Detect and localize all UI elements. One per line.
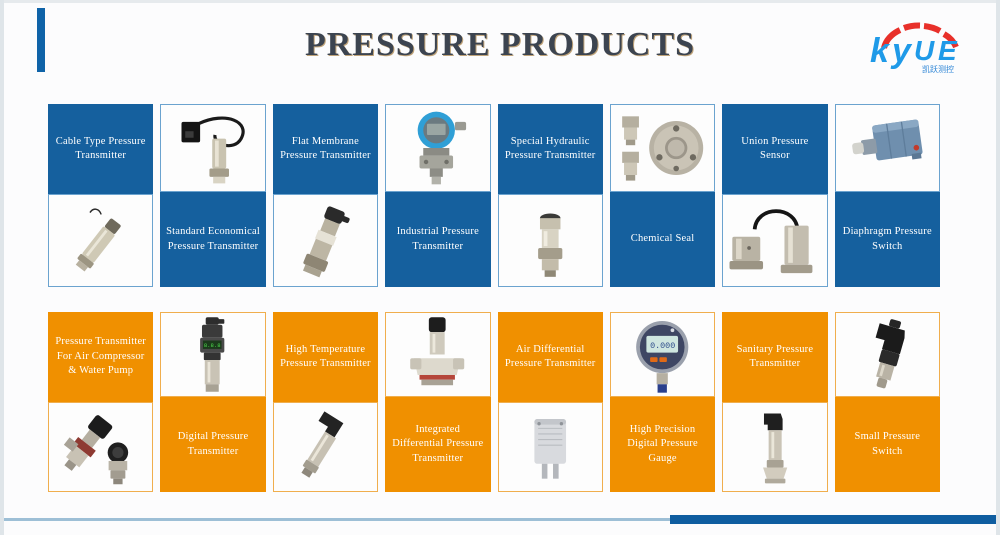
product-card-diaphragm-pressure-switch[interactable]: Diaphragm Pressure Switch: [835, 104, 940, 287]
product-grid: Cable Type Pressure Transmitter: [48, 104, 940, 492]
product-image-digital-gauge: 0.000: [610, 312, 715, 397]
product-image-flat-membrane-transmitter: [273, 194, 378, 287]
product-image-air-diff-transmitter: [498, 402, 603, 492]
product-label: Sanitary Pressure Transmitter: [722, 312, 827, 402]
svg-text:E: E: [938, 35, 958, 66]
product-image-union-sensor: [722, 194, 827, 287]
slide-left-edge: [0, 0, 4, 535]
product-card-pressure-transmitter-for-air-compressor-water-pump[interactable]: Pressure Transmitter For Air Compressor …: [48, 312, 153, 492]
product-image-high-temp-transmitter: [273, 402, 378, 492]
page-title: PRESSURE PRODUCTS: [0, 26, 1000, 64]
product-image-digital-transmitter: 8.8.8: [160, 312, 265, 397]
product-label: Flat Membrane Pressure Transmitter: [273, 104, 378, 194]
slide-top-edge: [0, 0, 1000, 3]
svg-text:0.000: 0.000: [650, 341, 675, 351]
product-label: Digital Pressure Transmitter: [160, 397, 265, 492]
footer-dark-bar: [670, 515, 996, 524]
product-image-connector-transmitter: [160, 104, 265, 192]
product-row-1: Cable Type Pressure Transmitter: [48, 104, 940, 287]
product-card-cable-type-pressure-transmitter[interactable]: Cable Type Pressure Transmitter: [48, 104, 153, 287]
product-label: High Temperature Pressure Transmitter: [273, 312, 378, 402]
product-image-diaphragm-switch: [835, 104, 940, 192]
svg-text:8.8.8: 8.8.8: [204, 342, 221, 349]
product-label: Industrial Pressure Transmitter: [385, 192, 490, 287]
product-label: Pressure Transmitter For Air Compressor …: [48, 312, 153, 402]
product-card-digital-pressure-transmitter[interactable]: Digital Pressure Transmitter 8.8.8: [160, 312, 265, 492]
product-card-special-hydraulic-pressure-transmitter[interactable]: Special Hydraulic Pressure Transmitter: [498, 104, 603, 287]
product-card-high-precision-digital-pressure-gauge[interactable]: High Precision Digital Pressure Gauge 0.…: [610, 312, 715, 492]
product-label: Small Pressure Switch: [835, 397, 940, 492]
product-row-2: Pressure Transmitter For Air Compressor …: [48, 312, 940, 492]
product-image-chemical-seal-flange: [610, 104, 715, 192]
slide-right-edge: [996, 0, 1000, 535]
logo-subtext: 凯跃测控: [922, 64, 954, 74]
product-card-flat-membrane-pressure-transmitter[interactable]: Flat Membrane Pressure Transmitter: [273, 104, 378, 287]
product-card-union-pressure-sensor[interactable]: Union Pressure Sensor: [722, 104, 827, 287]
product-image-industrial-transmitter: [385, 104, 490, 192]
product-image-sanitary-transmitter: [722, 402, 827, 492]
product-label: Union Pressure Sensor: [722, 104, 827, 194]
product-label: Diaphragm Pressure Switch: [835, 192, 940, 287]
product-card-chemical-seal[interactable]: Chemical Seal: [610, 104, 715, 287]
slide-canvas: PRESSURE PRODUCTS k y U E 凯跃测控: [0, 0, 1000, 535]
product-card-industrial-pressure-transmitter[interactable]: Industrial Pressure Transmitter: [385, 104, 490, 287]
footer-light-line: [4, 518, 670, 521]
product-card-integrated-differential-pressure-transmitter[interactable]: Integrated Differential Pressure Transmi…: [385, 312, 490, 492]
product-label: Air Differential Pressure Transmitter: [498, 312, 603, 402]
product-label: High Precision Digital Pressure Gauge: [610, 397, 715, 492]
product-image-small-switch: [835, 312, 940, 397]
svg-text:k: k: [870, 32, 891, 70]
product-card-high-temperature-pressure-transmitter[interactable]: High Temperature Pressure Transmitter: [273, 312, 378, 492]
product-label: Chemical Seal: [610, 192, 715, 287]
product-image-integrated-diff-transmitter: [385, 312, 490, 397]
product-card-sanitary-pressure-transmitter[interactable]: Sanitary Pressure Transmitter: [722, 312, 827, 492]
product-label: Special Hydraulic Pressure Transmitter: [498, 104, 603, 194]
product-image-cable-transmitter: [48, 194, 153, 287]
company-logo: k y U E 凯跃测控: [866, 18, 976, 76]
product-image-compressor-transmitter: [48, 402, 153, 492]
product-label: Cable Type Pressure Transmitter: [48, 104, 153, 194]
product-image-hydraulic-transmitter: [498, 194, 603, 287]
product-card-air-differential-pressure-transmitter[interactable]: Air Differential Pressure Transmitter: [498, 312, 603, 492]
product-card-standard-economical-pressure-transmitter[interactable]: Standard Economical Pressure Transmitter: [160, 104, 265, 287]
svg-text:y: y: [890, 32, 913, 70]
product-label: Integrated Differential Pressure Transmi…: [385, 397, 490, 492]
product-card-small-pressure-switch[interactable]: Small Pressure Switch: [835, 312, 940, 492]
product-label: Standard Economical Pressure Transmitter: [160, 192, 265, 287]
svg-text:U: U: [914, 35, 935, 66]
